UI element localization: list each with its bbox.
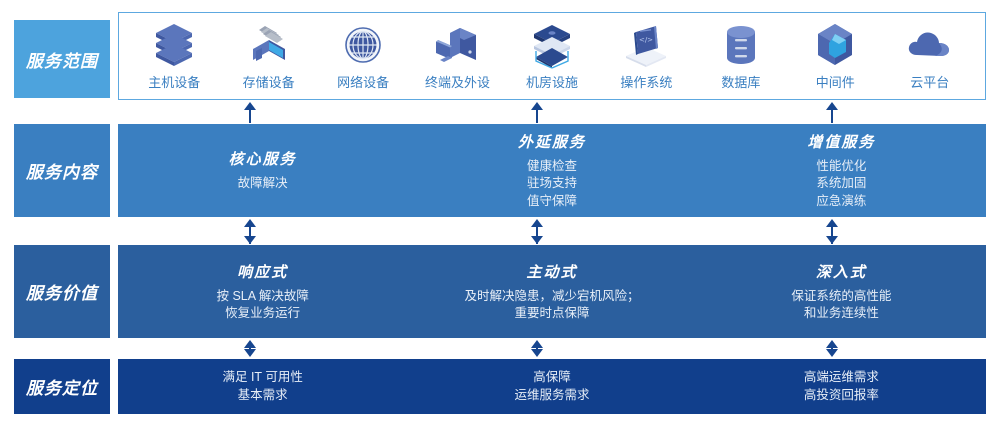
- value-column-proactive: 主动式 及时解决隐患，减少宕机风险； 重要时点保障: [407, 245, 696, 338]
- scope-item-label: 云平台: [910, 72, 949, 91]
- value-column-indepth: 深入式 保证系统的高性能 和业务连续性: [697, 245, 986, 338]
- scope-item-storage[interactable]: 存储设备: [221, 19, 315, 91]
- positioning-column-line: 高保障: [533, 369, 571, 387]
- cloud-icon: [902, 21, 958, 69]
- content-column-line: 应急演练: [816, 193, 866, 210]
- scope-item-label: 操作系统: [620, 72, 672, 91]
- arrow-head-down: [826, 349, 838, 357]
- service-value-panel: 响应式 按 SLA 解决故障 恢复业务运行 主动式 及时解决隐患，减少宕机风险；…: [118, 245, 986, 338]
- scope-item-host[interactable]: 主机设备: [127, 19, 221, 91]
- content-column-line: 性能优化: [816, 158, 866, 175]
- content-column-line: 驻场支持: [527, 175, 577, 192]
- positioning-column-line: 基本需求: [238, 387, 288, 405]
- content-column-line: 故障解决: [238, 175, 288, 192]
- connector-arrow-down-into-value-col2: [530, 232, 544, 244]
- connector-arrow-up-col1: [243, 102, 257, 123]
- value-column-line: 保证系统的高性能: [791, 288, 891, 305]
- connector-arrow-up-col2: [530, 102, 544, 123]
- positioning-column-line: 运维服务需求: [514, 387, 589, 405]
- globe-network-icon: [335, 21, 391, 69]
- content-column-line: 健康检查: [527, 158, 577, 175]
- scope-item-label: 数据库: [721, 72, 760, 91]
- connector-arrow-double-col2: [530, 340, 544, 357]
- service-scope-panel: 主机设备: [118, 12, 986, 100]
- scope-item-label: 主机设备: [148, 72, 200, 91]
- content-column-title: 增值服务: [807, 131, 875, 152]
- content-columns: 核心服务 故障解决 外延服务 健康检查 驻场支持 值守保障 增值服务 性能优化 …: [118, 124, 986, 217]
- desktop-pc-icon: [430, 21, 486, 69]
- connector-arrow-down-into-value-col3: [825, 232, 839, 244]
- value-column-line: 重要时点保障: [514, 305, 589, 322]
- scope-item-os[interactable]: </> 操作系统: [599, 19, 693, 91]
- svg-text:</>: </>: [639, 36, 653, 44]
- arrow-head-down: [244, 349, 256, 357]
- storage-array-icon: [241, 21, 297, 69]
- positioning-column-basic: 满足 IT 可用性 基本需求: [118, 359, 407, 414]
- connector-arrow-down-into-value-col1: [243, 232, 257, 244]
- scope-item-middleware[interactable]: 中间件: [788, 19, 882, 91]
- row-label-service-content: 服务内容: [14, 124, 110, 217]
- content-column-extended: 外延服务 健康检查 驻场支持 值守保障: [407, 124, 696, 217]
- value-columns: 响应式 按 SLA 解决故障 恢复业务运行 主动式 及时解决隐患，减少宕机风险；…: [118, 245, 986, 338]
- value-column-line: 恢复业务运行: [225, 305, 300, 322]
- value-column-title: 深入式: [816, 261, 867, 282]
- scope-item-cloud[interactable]: 云平台: [883, 19, 977, 91]
- value-column-line: 和业务连续性: [804, 305, 879, 322]
- content-column-line: 值守保障: [527, 193, 577, 210]
- value-column-line: 及时解决隐患，减少宕机风险；: [464, 288, 639, 305]
- row-label-text: 服务内容: [26, 158, 98, 183]
- scope-item-database[interactable]: 数据库: [694, 19, 788, 91]
- scope-item-label: 终端及外设: [425, 72, 490, 91]
- positioning-column-line: 高投资回报率: [804, 387, 879, 405]
- positioning-column-advanced: 高端运维需求 高投资回报率: [697, 359, 986, 414]
- middleware-cube-icon: [807, 21, 863, 69]
- row-label-text: 服务范围: [26, 47, 98, 72]
- database-cylinder-icon: [713, 21, 769, 69]
- scope-item-label: 中间件: [816, 72, 855, 91]
- arrow-head-down: [244, 236, 256, 244]
- value-column-line: 按 SLA 解决故障: [216, 288, 308, 305]
- content-column-value-added: 增值服务 性能优化 系统加固 应急演练: [697, 124, 986, 217]
- scope-item-terminal[interactable]: 终端及外设: [410, 19, 504, 91]
- row-label-text: 服务定位: [26, 374, 98, 399]
- value-column-title: 响应式: [237, 261, 288, 282]
- content-column-core: 核心服务 故障解决: [118, 124, 407, 217]
- content-column-line: 系统加固: [816, 175, 866, 192]
- arrow-shaft: [831, 108, 833, 123]
- scope-item-label: 网络设备: [337, 72, 389, 91]
- scope-item-network[interactable]: 网络设备: [316, 19, 410, 91]
- positioning-column-assurance: 高保障 运维服务需求: [407, 359, 696, 414]
- row-label-service-scope: 服务范围: [14, 20, 110, 98]
- scope-icon-strip: 主机设备: [119, 13, 985, 99]
- service-framework-diagram: 服务范围 服务内容 服务价值 服务定位: [0, 0, 1000, 424]
- datacenter-rack-icon: [524, 21, 580, 69]
- server-stack-icon: [146, 21, 202, 69]
- arrow-head-down: [531, 349, 543, 357]
- value-column-title: 主动式: [526, 261, 577, 282]
- content-column-title: 核心服务: [229, 148, 297, 169]
- scope-item-datacenter[interactable]: 机房设施: [505, 19, 599, 91]
- arrow-head-down: [826, 236, 838, 244]
- connector-arrow-double-col1: [243, 340, 257, 357]
- os-book-icon: </>: [618, 21, 674, 69]
- arrow-shaft: [249, 108, 251, 123]
- row-label-text: 服务价值: [26, 279, 98, 304]
- arrow-head-down: [531, 236, 543, 244]
- connector-arrow-double-col3: [825, 340, 839, 357]
- arrow-shaft: [536, 108, 538, 123]
- scope-item-label: 存储设备: [243, 72, 295, 91]
- value-column-reactive: 响应式 按 SLA 解决故障 恢复业务运行: [118, 245, 407, 338]
- row-label-service-value: 服务价值: [14, 245, 110, 338]
- positioning-columns: 满足 IT 可用性 基本需求 高保障 运维服务需求 高端运维需求 高投资回报率: [118, 359, 986, 414]
- connector-arrow-up-col3: [825, 102, 839, 123]
- scope-item-label: 机房设施: [526, 72, 578, 91]
- positioning-column-line: 高端运维需求: [804, 369, 879, 387]
- row-label-service-positioning: 服务定位: [14, 359, 110, 414]
- content-column-title: 外延服务: [518, 131, 586, 152]
- positioning-column-line: 满足 IT 可用性: [222, 369, 302, 387]
- service-positioning-panel: 满足 IT 可用性 基本需求 高保障 运维服务需求 高端运维需求 高投资回报率: [118, 359, 986, 414]
- service-content-panel: 核心服务 故障解决 外延服务 健康检查 驻场支持 值守保障 增值服务 性能优化 …: [118, 124, 986, 217]
